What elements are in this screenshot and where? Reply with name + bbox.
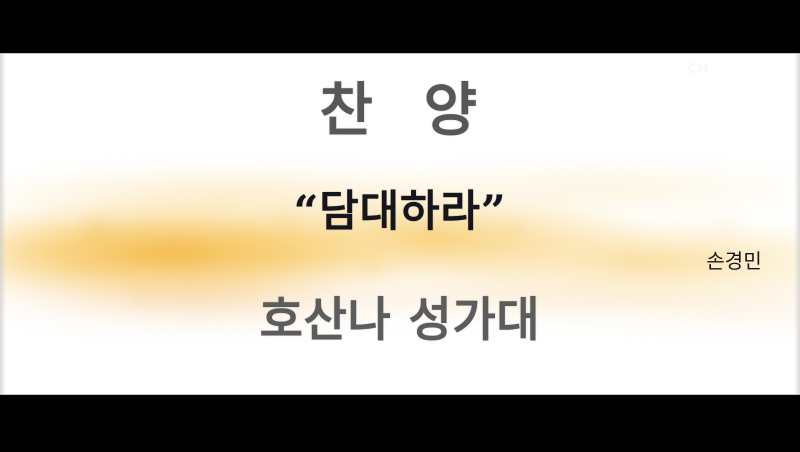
- hymn-heading: 찬 양: [0, 81, 800, 139]
- video-frame: CH 찬 양 “담대하라” 손경민 호산나 성가대: [0, 0, 800, 452]
- hymn-composer-credit: 손경민: [0, 251, 762, 271]
- slide-text-layer: 찬 양 “담대하라” 손경민 호산나 성가대: [0, 53, 800, 395]
- letterbox-bar-top: [0, 0, 800, 53]
- hymn-performer-name: 호산나 성가대: [0, 297, 800, 344]
- channel-watermark: CH: [674, 61, 722, 79]
- letterbox-bar-bottom: [0, 395, 800, 452]
- hymn-song-title: “담대하라”: [0, 191, 800, 234]
- hymn-title-slide: CH 찬 양 “담대하라” 손경민 호산나 성가대: [0, 53, 800, 395]
